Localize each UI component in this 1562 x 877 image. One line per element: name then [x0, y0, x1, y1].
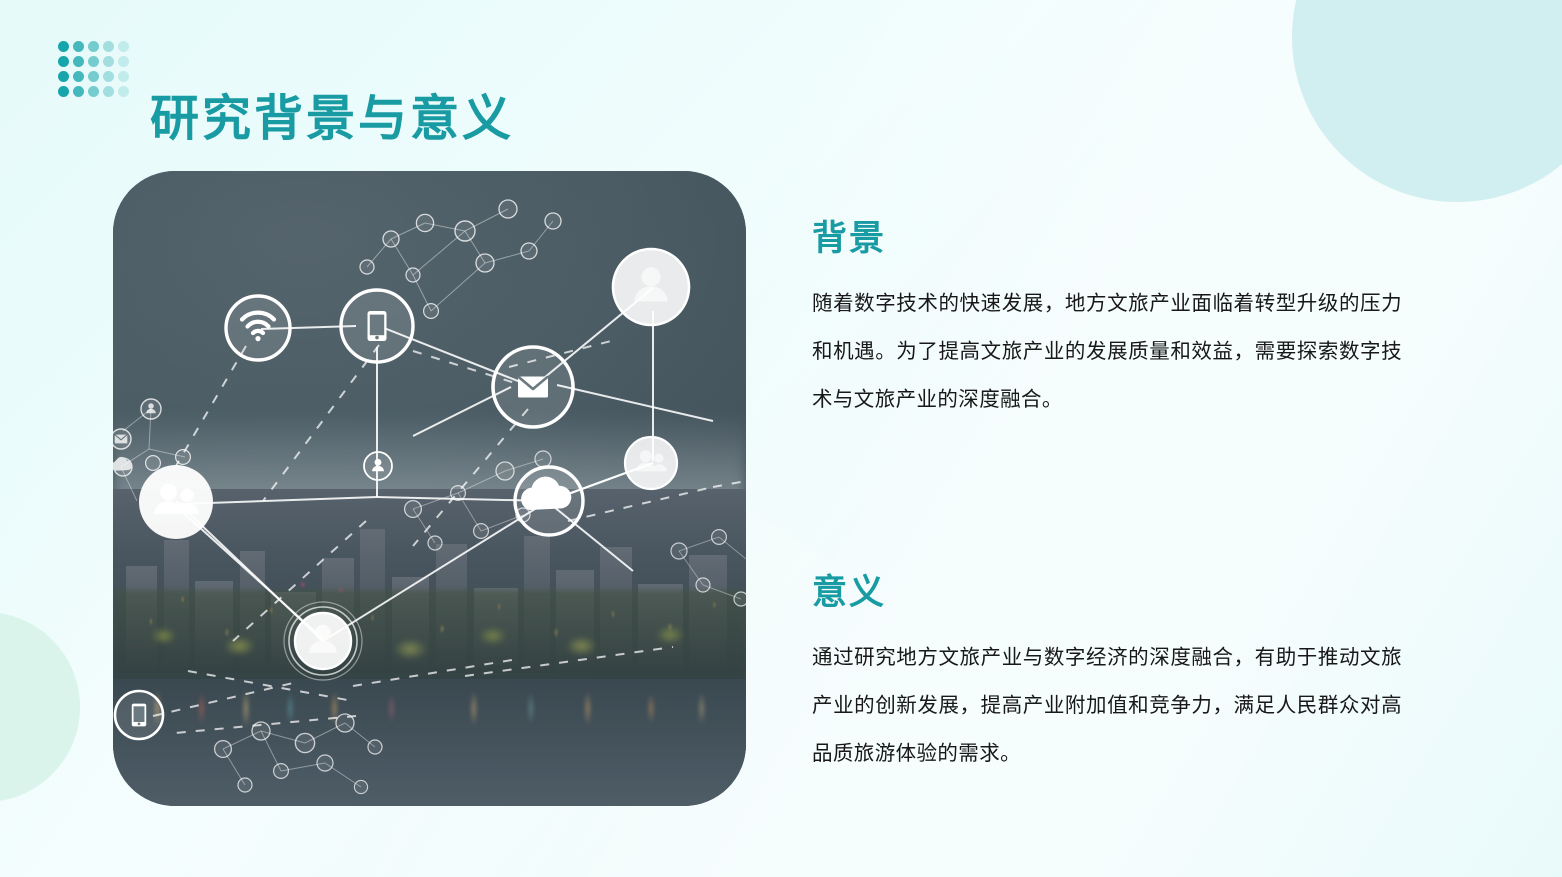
grid-dot — [88, 86, 99, 97]
slide-header: 研究背景与意义 — [0, 0, 1562, 160]
network-links-dashed — [153, 341, 746, 733]
grid-dot — [73, 86, 84, 97]
network-node-mail — [493, 347, 573, 427]
grid-dot — [73, 41, 84, 52]
grid-dot — [88, 56, 99, 67]
grid-dot — [103, 56, 114, 67]
grid-dot — [58, 86, 69, 97]
network-node-phone — [341, 290, 413, 362]
network-node-wifi — [226, 296, 290, 360]
grid-dot — [88, 41, 99, 52]
grid-dot — [73, 71, 84, 82]
grid-dot — [88, 71, 99, 82]
network-node-person-top — [613, 249, 689, 325]
network-node-person-center — [284, 602, 362, 680]
grid-dot — [73, 56, 84, 67]
page-title: 研究背景与意义 — [150, 91, 514, 147]
grid-dot — [103, 71, 114, 82]
grid-dot — [58, 41, 69, 52]
section-body-background: 随着数字技术的快速发展，地方文旅产业面临着转型升级的压力和机遇。为了提高文旅产业… — [812, 280, 1402, 424]
network-cluster-left-nodes — [113, 399, 190, 476]
network-node-group-right — [625, 437, 677, 489]
grid-dot — [118, 41, 129, 52]
section-body-significance: 通过研究地方文旅产业与数字经济的深度融合，有助于推动文旅产业的创新发展，提高产业… — [812, 634, 1402, 778]
grid-dot — [103, 86, 114, 97]
network-node-cloud — [515, 467, 583, 535]
grid-dot — [58, 56, 69, 67]
slide-root: 研究背景与意义 — [0, 0, 1562, 877]
content-column: 背景 随着数字技术的快速发展，地方文旅产业面临着转型升级的压力和机遇。为了提高文… — [812, 218, 1402, 778]
section-spacer — [812, 424, 1402, 572]
network-cluster-right — [679, 537, 746, 599]
dot-grid-decoration — [58, 41, 133, 101]
decorative-circle-bottom-left — [0, 612, 80, 802]
network-node-phone-bottom — [115, 691, 163, 739]
grid-dot — [58, 71, 69, 82]
network-node-group-left — [139, 465, 213, 539]
section-heading-significance: 意义 — [812, 572, 1402, 614]
section-heading-background: 背景 — [812, 218, 1402, 260]
grid-dot — [118, 86, 129, 97]
network-node-person-mid — [364, 452, 392, 480]
grid-dot — [118, 71, 129, 82]
network-overlay — [113, 171, 746, 806]
network-cluster-bottom — [223, 723, 375, 787]
hero-image-panel — [113, 171, 746, 806]
grid-dot — [118, 56, 129, 67]
grid-dot — [103, 41, 114, 52]
